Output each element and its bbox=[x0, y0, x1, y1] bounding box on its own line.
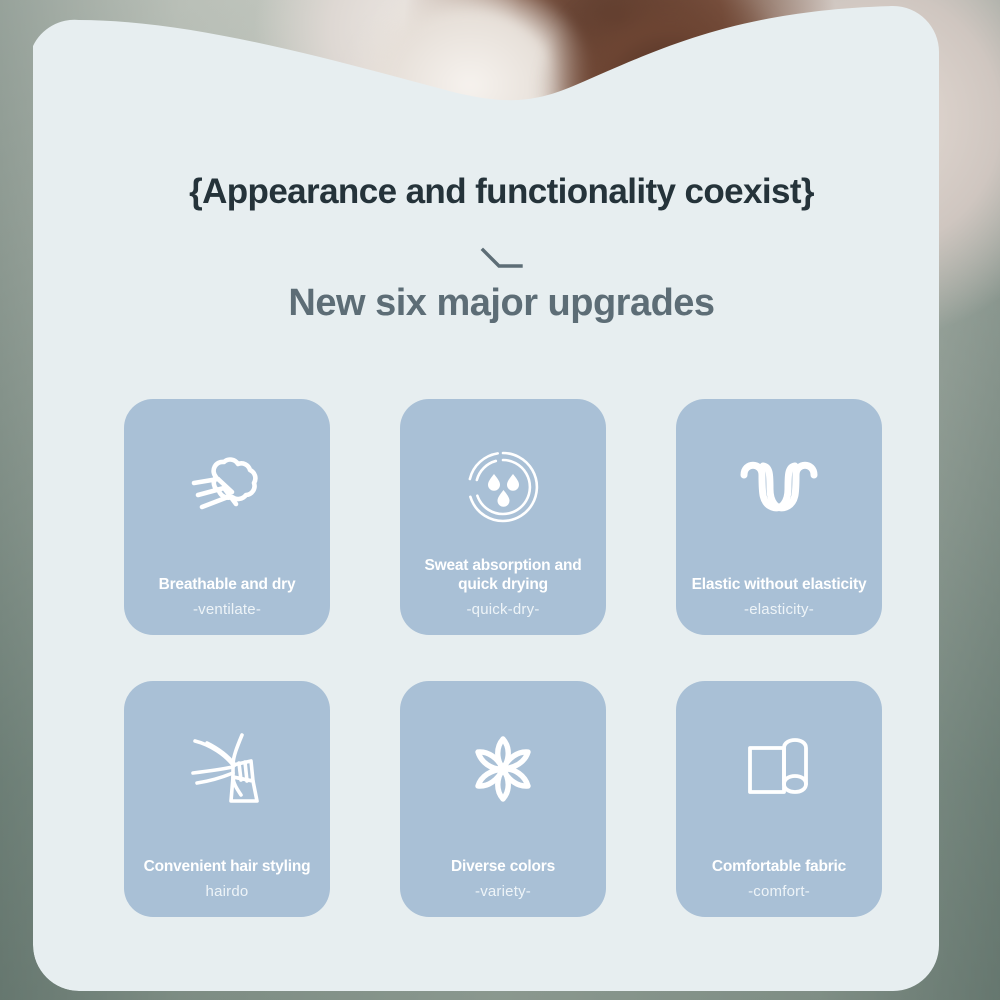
feature-card-ventilate[interactable]: Breathable and dry -ventilate- bbox=[124, 399, 330, 635]
feature-card-comfort[interactable]: Comfortable fabric -comfort- bbox=[676, 681, 882, 917]
feature-card-text: Diverse colors -variety- bbox=[400, 857, 606, 901]
feature-subtitle: hairdo bbox=[132, 883, 322, 901]
feature-subtitle: -ventilate- bbox=[132, 601, 322, 619]
feature-label: Comfortable fabric bbox=[684, 857, 874, 876]
feature-card-quick-dry[interactable]: Sweat absorption and quick drying -quick… bbox=[400, 399, 606, 635]
elastic-spring-icon bbox=[737, 445, 821, 529]
header-block: {Appearance and functionality coexist} N… bbox=[33, 172, 970, 325]
feature-label: Diverse colors bbox=[408, 857, 598, 876]
page-subtitle: New six major upgrades bbox=[33, 282, 970, 325]
feature-card-text: Sweat absorption and quick drying -quick… bbox=[400, 556, 606, 619]
flower-petals-icon bbox=[461, 727, 545, 811]
page-title: {Appearance and functionality coexist} bbox=[33, 172, 970, 212]
fabric-roll-icon bbox=[737, 727, 821, 811]
feature-label: Convenient hair styling bbox=[132, 857, 322, 876]
feature-label: Elastic without elasticity bbox=[684, 575, 874, 594]
ponytail-hair-icon bbox=[185, 727, 269, 811]
feature-card-text: Elastic without elasticity -elasticity- bbox=[676, 575, 882, 619]
feature-subtitle: -comfort- bbox=[684, 883, 874, 901]
angle-arrow-icon bbox=[479, 247, 525, 271]
feature-subtitle: -quick-dry- bbox=[408, 601, 598, 619]
cloud-wind-icon bbox=[185, 445, 269, 529]
feature-card-variety[interactable]: Diverse colors -variety- bbox=[400, 681, 606, 917]
feature-subtitle: -elasticity- bbox=[684, 601, 874, 619]
feature-card-elasticity[interactable]: Elastic without elasticity -elasticity- bbox=[676, 399, 882, 635]
feature-grid: Breathable and dry -ventilate- Sweat abs… bbox=[124, 399, 882, 917]
feature-card-hairdo[interactable]: Convenient hair styling hairdo bbox=[124, 681, 330, 917]
divider bbox=[33, 242, 970, 276]
feature-card-text: Convenient hair styling hairdo bbox=[124, 857, 330, 901]
feature-label: Sweat absorption and quick drying bbox=[408, 556, 598, 594]
feature-card-text: Comfortable fabric -comfort- bbox=[676, 857, 882, 901]
water-droplets-circle-icon bbox=[461, 445, 545, 529]
feature-card-text: Breathable and dry -ventilate- bbox=[124, 575, 330, 619]
feature-label: Breathable and dry bbox=[132, 575, 322, 594]
feature-subtitle: -variety- bbox=[408, 883, 598, 901]
